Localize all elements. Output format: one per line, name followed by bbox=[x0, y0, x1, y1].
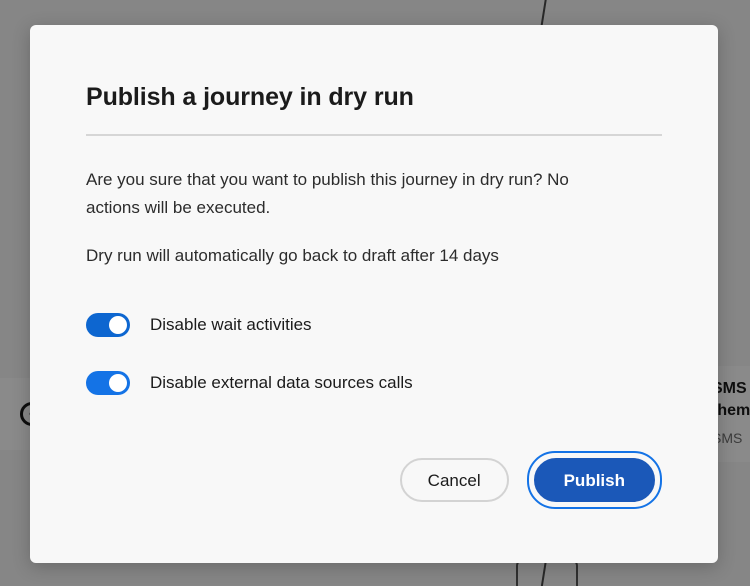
publish-dry-run-dialog: Publish a journey in dry run Are you sur… bbox=[30, 25, 718, 563]
cancel-button[interactable]: Cancel bbox=[400, 458, 509, 502]
toggle-row-disable-external-data-sources-calls[interactable]: Disable external data sources calls bbox=[86, 366, 662, 400]
toggle-switch-disable-wait-activities[interactable] bbox=[86, 313, 130, 337]
toggle-label-disable-wait-activities: Disable wait activities bbox=[150, 315, 312, 335]
toggle-label-disable-external-data-sources-calls: Disable external data sources calls bbox=[150, 373, 413, 393]
publish-button-focus-ring: Publish bbox=[527, 451, 662, 509]
toggle-switch-disable-external-data-sources-calls[interactable] bbox=[86, 371, 130, 395]
dialog-divider bbox=[86, 134, 662, 136]
toggle-row-disable-wait-activities[interactable]: Disable wait activities bbox=[86, 308, 662, 342]
dialog-paragraph-2: Dry run will automatically go back to dr… bbox=[86, 242, 626, 270]
dialog-footer: Cancel Publish bbox=[400, 451, 662, 509]
toggle-list: Disable wait activities Disable external… bbox=[86, 308, 662, 400]
dialog-title: Publish a journey in dry run bbox=[86, 25, 662, 112]
toggle-knob bbox=[109, 316, 127, 334]
dialog-paragraph-1: Are you sure that you want to publish th… bbox=[86, 166, 626, 222]
dialog-body: Are you sure that you want to publish th… bbox=[86, 144, 662, 270]
toggle-knob bbox=[109, 374, 127, 392]
screen-root: ● SMS them SMS Publish a journey in dry … bbox=[0, 0, 750, 586]
publish-button[interactable]: Publish bbox=[534, 458, 655, 502]
